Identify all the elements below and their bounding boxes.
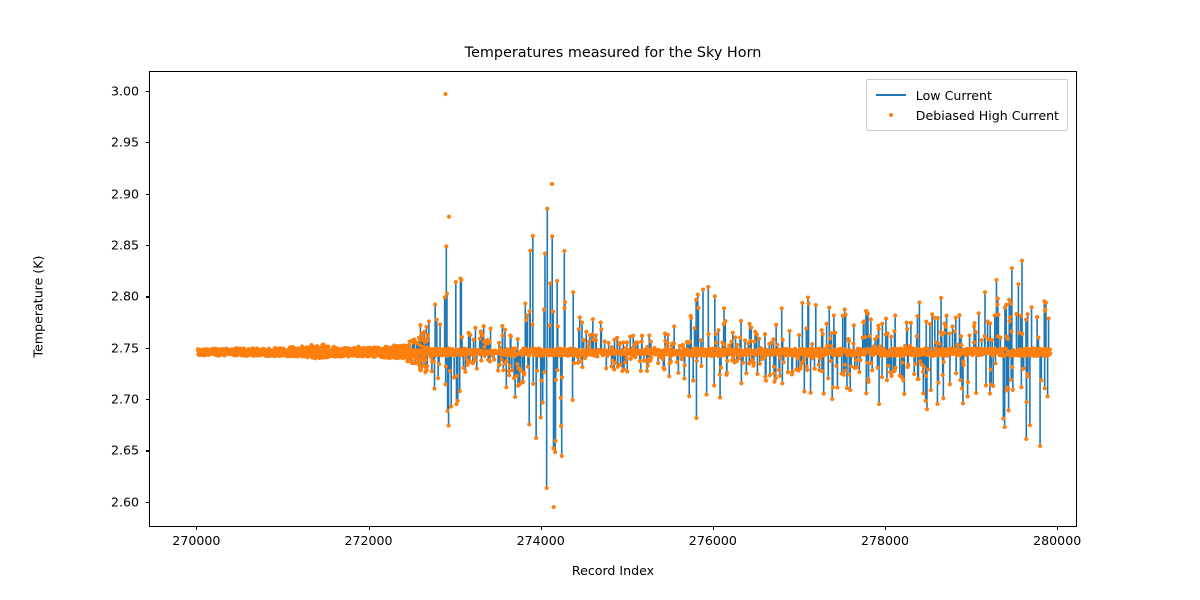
y-tick-label: 2.85 xyxy=(111,238,139,253)
y-tick-label: 2.95 xyxy=(111,135,139,150)
x-tick-mark xyxy=(1057,527,1058,531)
y-tick-label: 2.90 xyxy=(111,186,139,201)
plot-area: Low Current Debiased High Current xyxy=(149,71,1077,527)
y-tick-mark xyxy=(146,91,150,92)
x-axis-label: Record Index xyxy=(149,563,1077,578)
x-tick-mark xyxy=(369,527,370,531)
y-tick-label: 2.70 xyxy=(111,392,139,407)
y-tick-mark xyxy=(146,502,150,503)
marker-path xyxy=(196,92,1052,509)
y-tick-label: 2.65 xyxy=(111,443,139,458)
y-tick-mark xyxy=(146,348,150,349)
legend-item-debiased-high-current[interactable]: Debiased High Current xyxy=(873,105,1059,125)
y-tick-mark xyxy=(146,245,150,246)
series-debiased-high-current xyxy=(196,92,1052,509)
matplotlib-figure: Temperatures measured for the Sky Horn T… xyxy=(0,0,1200,600)
x-tick-mark xyxy=(713,527,714,531)
y-tick-mark xyxy=(146,296,150,297)
x-tick-mark xyxy=(541,527,542,531)
y-tick-mark xyxy=(146,450,150,451)
data-canvas xyxy=(150,72,1076,526)
legend-label: Debiased High Current xyxy=(916,108,1059,123)
y-tick-label: 2.60 xyxy=(111,494,139,509)
y-tick-label: 2.80 xyxy=(111,289,139,304)
chart-legend: Low Current Debiased High Current xyxy=(866,79,1068,131)
dot-glyph-icon xyxy=(873,113,909,118)
y-tick-mark xyxy=(146,142,150,143)
y-tick-mark xyxy=(146,194,150,195)
x-tick-label: 270000 xyxy=(172,533,220,548)
legend-item-low-current[interactable]: Low Current xyxy=(873,85,1059,105)
y-tick-mark xyxy=(146,399,150,400)
x-tick-label: 276000 xyxy=(689,533,737,548)
line-glyph-icon xyxy=(873,94,909,96)
x-tick-mark xyxy=(885,527,886,531)
x-tick-label: 280000 xyxy=(1033,533,1081,548)
page-title: Temperatures measured for the Sky Horn xyxy=(149,46,1077,60)
x-tick-mark xyxy=(196,527,197,531)
y-tick-label: 2.75 xyxy=(111,340,139,355)
x-tick-label: 272000 xyxy=(344,533,392,548)
series-svg xyxy=(150,72,1076,526)
x-tick-label: 274000 xyxy=(517,533,565,548)
x-tick-label: 278000 xyxy=(861,533,909,548)
legend-label: Low Current xyxy=(916,88,992,103)
y-axis-tick-labels: 2.602.652.702.752.802.852.902.953.00 xyxy=(0,0,139,600)
y-tick-label: 3.00 xyxy=(111,84,139,99)
